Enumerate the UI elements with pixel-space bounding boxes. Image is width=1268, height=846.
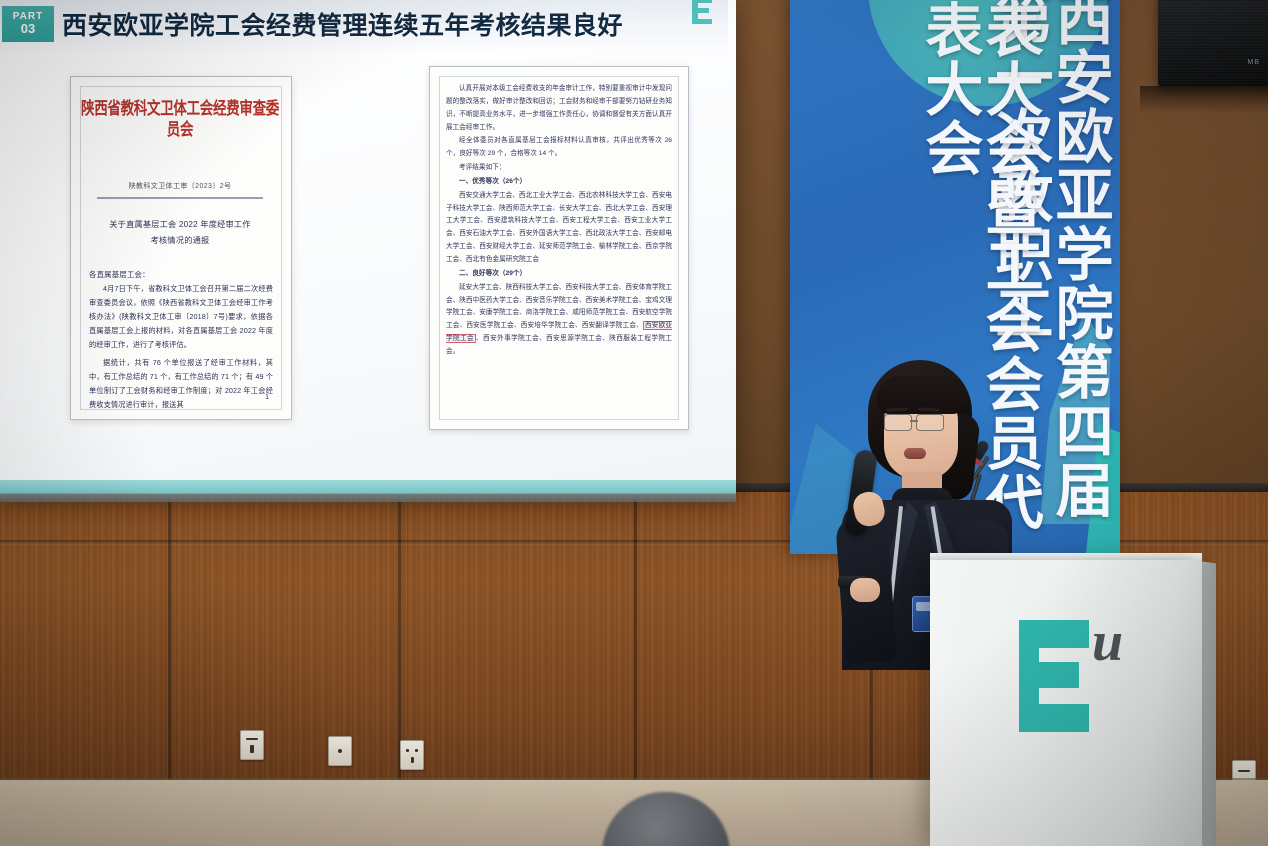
eyeglasses-lens-left bbox=[884, 414, 912, 431]
slide-title-bar: PART 03 西安欧亚学院工会经费管理连续五年考核结果良好 bbox=[0, 0, 728, 52]
wall-outlet bbox=[400, 740, 424, 770]
ceiling-speaker-shadow bbox=[1140, 86, 1268, 114]
section-2-text-after: 、西安外事学院工会、西安思源学院工会、陕西服装工程学院工会。 bbox=[446, 335, 672, 355]
document-title: 关于直属基层工会 2022 年度经审工作 考核情况的通报 bbox=[89, 217, 271, 248]
document-section-1-heading: 一、优秀等次（26个） bbox=[446, 176, 672, 189]
wall-panel-seam bbox=[634, 492, 637, 792]
eurasia-logo-E-icon bbox=[1019, 620, 1089, 732]
document-page-left: 陕西省教科文卫体工会经费审查委员会 陕教科文卫体工审〔2023〕2号 关于直属基… bbox=[70, 76, 292, 420]
document-paragraph-1: 4月7日下午，省教科文卫体工会召开第二届二次经费审查委员会议，依照《陕西省教科文… bbox=[89, 282, 273, 352]
document-section-2-heading: 二、良好等次（29个） bbox=[446, 268, 672, 281]
document-section-1-body: 西安交通大学工会、西北工业大学工会、西北农林科技大学工会、西安电子科技大学工会、… bbox=[446, 190, 672, 267]
document-section-2-body: 延安大学工会、陕西科技大学工会、西安科技大学工会、西安体育学院工会、陕西中医药大… bbox=[446, 282, 672, 359]
eyeglasses-lens-right bbox=[916, 414, 944, 431]
speaker-grill bbox=[1158, 0, 1268, 86]
slide-title: 西安欧亚学院工会经费管理连续五年考核结果良好 bbox=[62, 2, 662, 46]
document-reference-number: 陕教科文卫体工审〔2023〕2号 bbox=[81, 181, 279, 191]
document-divider-rule bbox=[97, 197, 263, 199]
document-page-right: 认真开展对本级工会经费收支的年金审计工作，特别要重视审计中发现问题的整改落实，做… bbox=[429, 66, 689, 430]
hand-right bbox=[850, 578, 880, 602]
screen-accent-band bbox=[0, 480, 736, 493]
section-2-text-before: 延安大学工会、陕西科技大学工会、西安科技大学工会、西安体育学院工会、陕西中医药大… bbox=[446, 284, 672, 330]
part-number-badge: PART 03 bbox=[2, 6, 54, 42]
eurasia-logo-u-icon: u bbox=[1092, 610, 1123, 674]
wall-outlet bbox=[240, 730, 264, 760]
document-paragraph-1: 认真开展对本级工会经费收支的年金审计工作，特别要重视审计中发现问题的整改落实，做… bbox=[446, 83, 672, 134]
mouth bbox=[904, 448, 926, 459]
part-number: 03 bbox=[21, 22, 35, 36]
document-paragraph-3: 考评结果如下： bbox=[446, 162, 672, 175]
ceiling-speaker: MB bbox=[1158, 0, 1268, 86]
document-paragraph-2: 据统计，共有 76 个单位报送了经审工作材料，其中，有工作总结的 71 个，有工… bbox=[89, 356, 273, 412]
document-salutation: 各直属基层工会： bbox=[89, 269, 150, 280]
speaker-brand-label: MB bbox=[1248, 59, 1261, 66]
document-issuer-heading: 陕西省教科文卫体工会经费审查委员会 bbox=[81, 99, 279, 141]
wall-panel-seam bbox=[168, 492, 171, 792]
document-body: 认真开展对本级工会经费收支的年金审计工作，特别要重视审计中发现问题的整改落实，做… bbox=[446, 83, 672, 360]
document-paragraph-2: 经全体委员对各直属基层工会报标材料认真审核，共评出优秀等次 26 个，良好等次 … bbox=[446, 135, 672, 161]
screen-bottom-shadow bbox=[0, 493, 736, 502]
document-page-number: 1 bbox=[265, 394, 269, 401]
document-paragraph: 4月7日下午，省教科文卫体工会召开第二届二次经费审查委员会议，依照《陕西省教科文… bbox=[89, 282, 273, 412]
wall-outlet bbox=[328, 736, 352, 766]
eurasia-e-logo-icon bbox=[692, 0, 714, 24]
conference-photo-scene: MB 西安欧亚学院第四届第一次教职工 表大会暨工会会员代表大会 PART 03 … bbox=[0, 0, 1268, 846]
eyeglasses-bridge bbox=[910, 420, 918, 422]
projection-screen: PART 03 西安欧亚学院工会经费管理连续五年考核结果良好 陕西省教科文卫体工… bbox=[0, 0, 736, 494]
